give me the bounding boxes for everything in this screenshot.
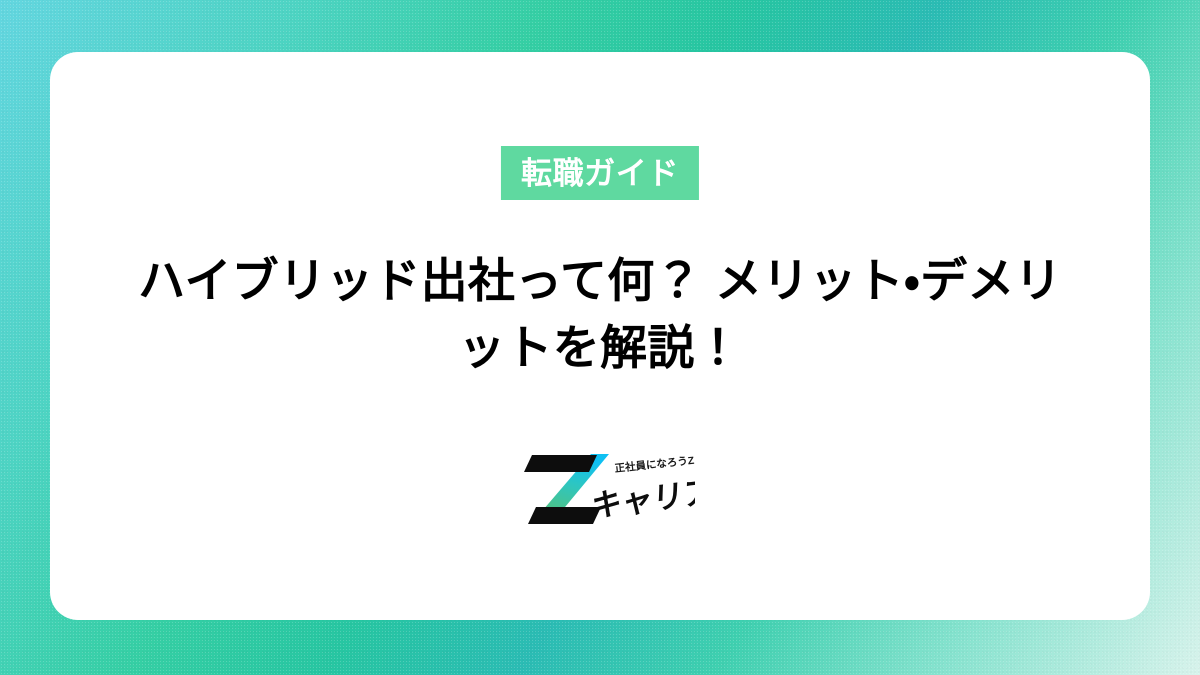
content-card: 転職ガイド ハイブリッド出社って何？ メリット・デメリットを解説！: [50, 52, 1150, 620]
poster-canvas: 転職ガイド ハイブリッド出社って何？ メリット・デメリットを解説！: [0, 0, 1200, 675]
zcareer-logo: 正社員になろうZ！ キャリア: [505, 450, 695, 528]
article-title: ハイブリッド出社って何？ メリット・デメリットを解説！: [120, 248, 1080, 381]
category-badge: 転職ガイド: [501, 146, 699, 200]
logo-tagline: 正社員になろうZ！: [614, 453, 695, 475]
zcareer-logo-svg: 正社員になろうZ！ キャリア: [505, 450, 695, 528]
logo-wordmark: キャリア: [590, 474, 695, 524]
